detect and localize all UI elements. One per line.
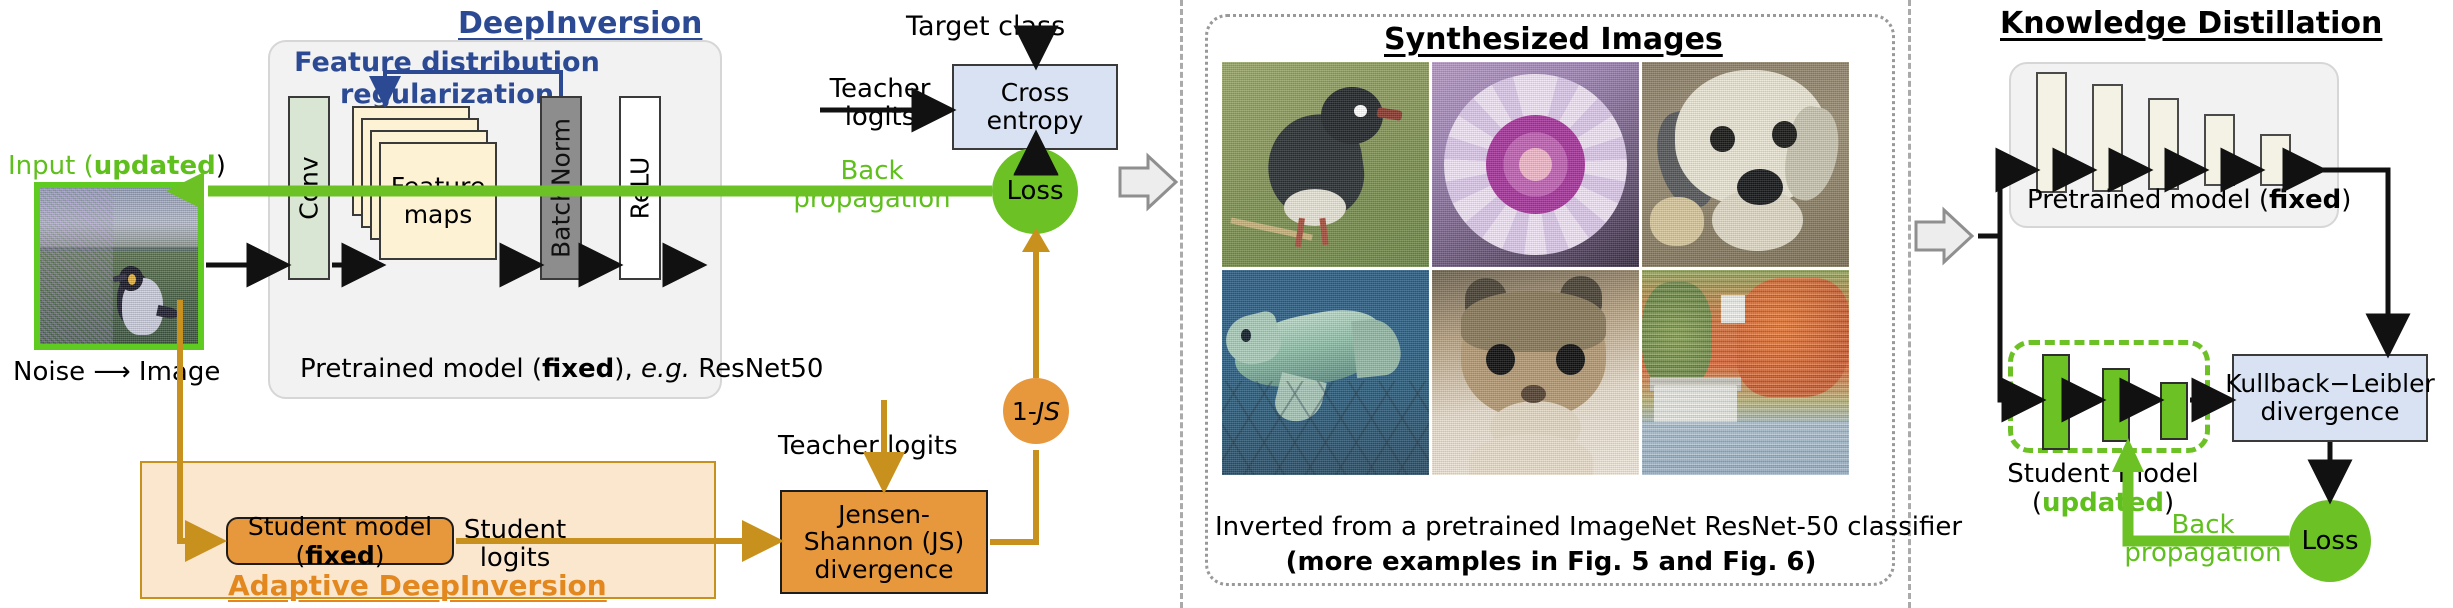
teacher-layer-bar-3	[2148, 98, 2179, 190]
loss-circle-left: Loss	[992, 148, 1078, 234]
bird-grain	[1222, 62, 1429, 267]
feature-maps-label: Featuremaps	[391, 173, 485, 229]
adaptive-deepinversion-title: Adaptive DeepInversion	[228, 569, 607, 602]
divider-left	[1180, 0, 1183, 608]
back-propagation-label-left: Backpropagation	[760, 158, 984, 213]
teacher-logits-top-label: Teacherlogits	[820, 76, 940, 131]
layer-batchnorm-label: BatchNorm	[547, 118, 576, 258]
tl-top-1: Teacher	[830, 74, 931, 104]
student-layer-bar-3	[2160, 382, 2188, 440]
layer-relu: ReLU	[619, 96, 661, 280]
autumn-grain	[1642, 270, 1849, 475]
squirrel-grain	[1432, 270, 1639, 475]
pm-bold: fixed	[542, 354, 614, 384]
student-model-fixed-box: Student model (fixed)	[226, 517, 454, 565]
student-layer-bar-1	[2042, 354, 2070, 450]
input-image-thumbnail[interactable]	[34, 182, 204, 350]
synth-caption-line1: Inverted from a pretrained ImageNet ResN…	[1215, 513, 1887, 541]
sl-2: logits	[480, 543, 551, 573]
sl-1: Student	[464, 515, 566, 545]
synthesized-images-title: Synthesized Images	[1384, 22, 1723, 57]
pm-prefix: Pretrained model (	[300, 354, 542, 384]
student-model-fixed-label: Student model (fixed)	[228, 512, 452, 570]
input-label-suffix: )	[216, 151, 226, 181]
back-propagation-label-right: Backpropagation	[2108, 512, 2298, 567]
student-logits-label: Studentlogits	[455, 517, 575, 572]
input-label-prefix: Input (	[8, 151, 94, 181]
pretrained-model-caption-right: Pretrained model (fixed)	[2027, 186, 2351, 214]
feature-map-1: Featuremaps	[379, 142, 497, 260]
layer-conv-label: Conv	[295, 156, 324, 219]
input-noise-left	[40, 188, 113, 344]
deepinversion-title: DeepInversion	[458, 6, 702, 41]
cross-entropy-box: Crossentropy	[952, 64, 1118, 150]
input-label-bold: updated	[94, 151, 216, 181]
teacher-logits-bottom-label: Teacher logits	[778, 432, 958, 460]
pm-italic: e.g.	[641, 354, 690, 384]
synth-tile-fish[interactable]	[1222, 270, 1429, 475]
cross-entropy-label: Crossentropy	[987, 79, 1084, 135]
bp-left-1: Back	[840, 156, 903, 186]
teacher-layer-bar-5	[2260, 134, 2291, 186]
synth-tile-autumn-landscape[interactable]	[1642, 270, 1849, 475]
bp-right-2: propagation	[2124, 538, 2281, 568]
pm-tail: ResNet50	[690, 354, 823, 384]
fish-grain	[1222, 270, 1429, 475]
one-minus-js-label: 1-JS	[1012, 397, 1060, 426]
student-caption-1: Student model	[2007, 459, 2199, 489]
target-class-label: Target class	[906, 12, 1065, 41]
teacher-layer-bar-2	[2092, 84, 2123, 192]
student-layer-bar-2	[2102, 368, 2130, 442]
student-model-caption-right: Student model (updated)	[2003, 460, 2203, 517]
layer-conv: Conv	[288, 96, 330, 280]
synth-tile-dog[interactable]	[1642, 62, 1849, 267]
input-updated-label: Input (updated)	[8, 152, 226, 180]
flower-grain	[1432, 62, 1639, 267]
layer-relu-label: ReLU	[626, 157, 655, 220]
layer-ellipsis: ...	[700, 163, 748, 200]
loss-circle-right: Loss	[2289, 500, 2371, 582]
js-divergence-label: Jensen-Shannon (JS)divergence	[804, 501, 965, 584]
bp-right-1: Back	[2171, 510, 2234, 540]
teacher-layer-bar-1	[2036, 72, 2067, 193]
knowledge-distillation-title: Knowledge Distillation	[2000, 6, 2382, 41]
bp-left-2: propagation	[793, 184, 950, 214]
synth-tile-bird[interactable]	[1222, 62, 1429, 267]
tl-top-2: logits	[845, 102, 916, 132]
synth-caption-line2: (more examples in Fig. 5 and Fig. 6)	[1215, 548, 1887, 576]
layer-batchnorm: BatchNorm	[540, 96, 582, 280]
reg-line1: Feature distribution	[294, 47, 600, 78]
figure-root: DeepInversion Feature distribution regul…	[0, 0, 2453, 608]
pm-suffix: ),	[614, 354, 641, 384]
noise-to-image-label: Noise ⟶ Image	[13, 358, 220, 386]
kl-divergence-label: Kullback−Leiblerdivergence	[2225, 370, 2435, 426]
pretrained-model-caption-left: Pretrained model (fixed), e.g. ResNet50	[300, 355, 823, 383]
kl-divergence-box: Kullback−Leiblerdivergence	[2232, 354, 2428, 442]
synth-tile-squirrel[interactable]	[1432, 270, 1639, 475]
dog-grain	[1642, 62, 1849, 267]
synth-tile-flower[interactable]	[1432, 62, 1639, 267]
one-minus-js-circle: 1-JS	[1003, 378, 1069, 444]
js-divergence-box: Jensen-Shannon (JS)divergence	[780, 490, 988, 594]
teacher-layer-bar-4	[2204, 114, 2235, 186]
